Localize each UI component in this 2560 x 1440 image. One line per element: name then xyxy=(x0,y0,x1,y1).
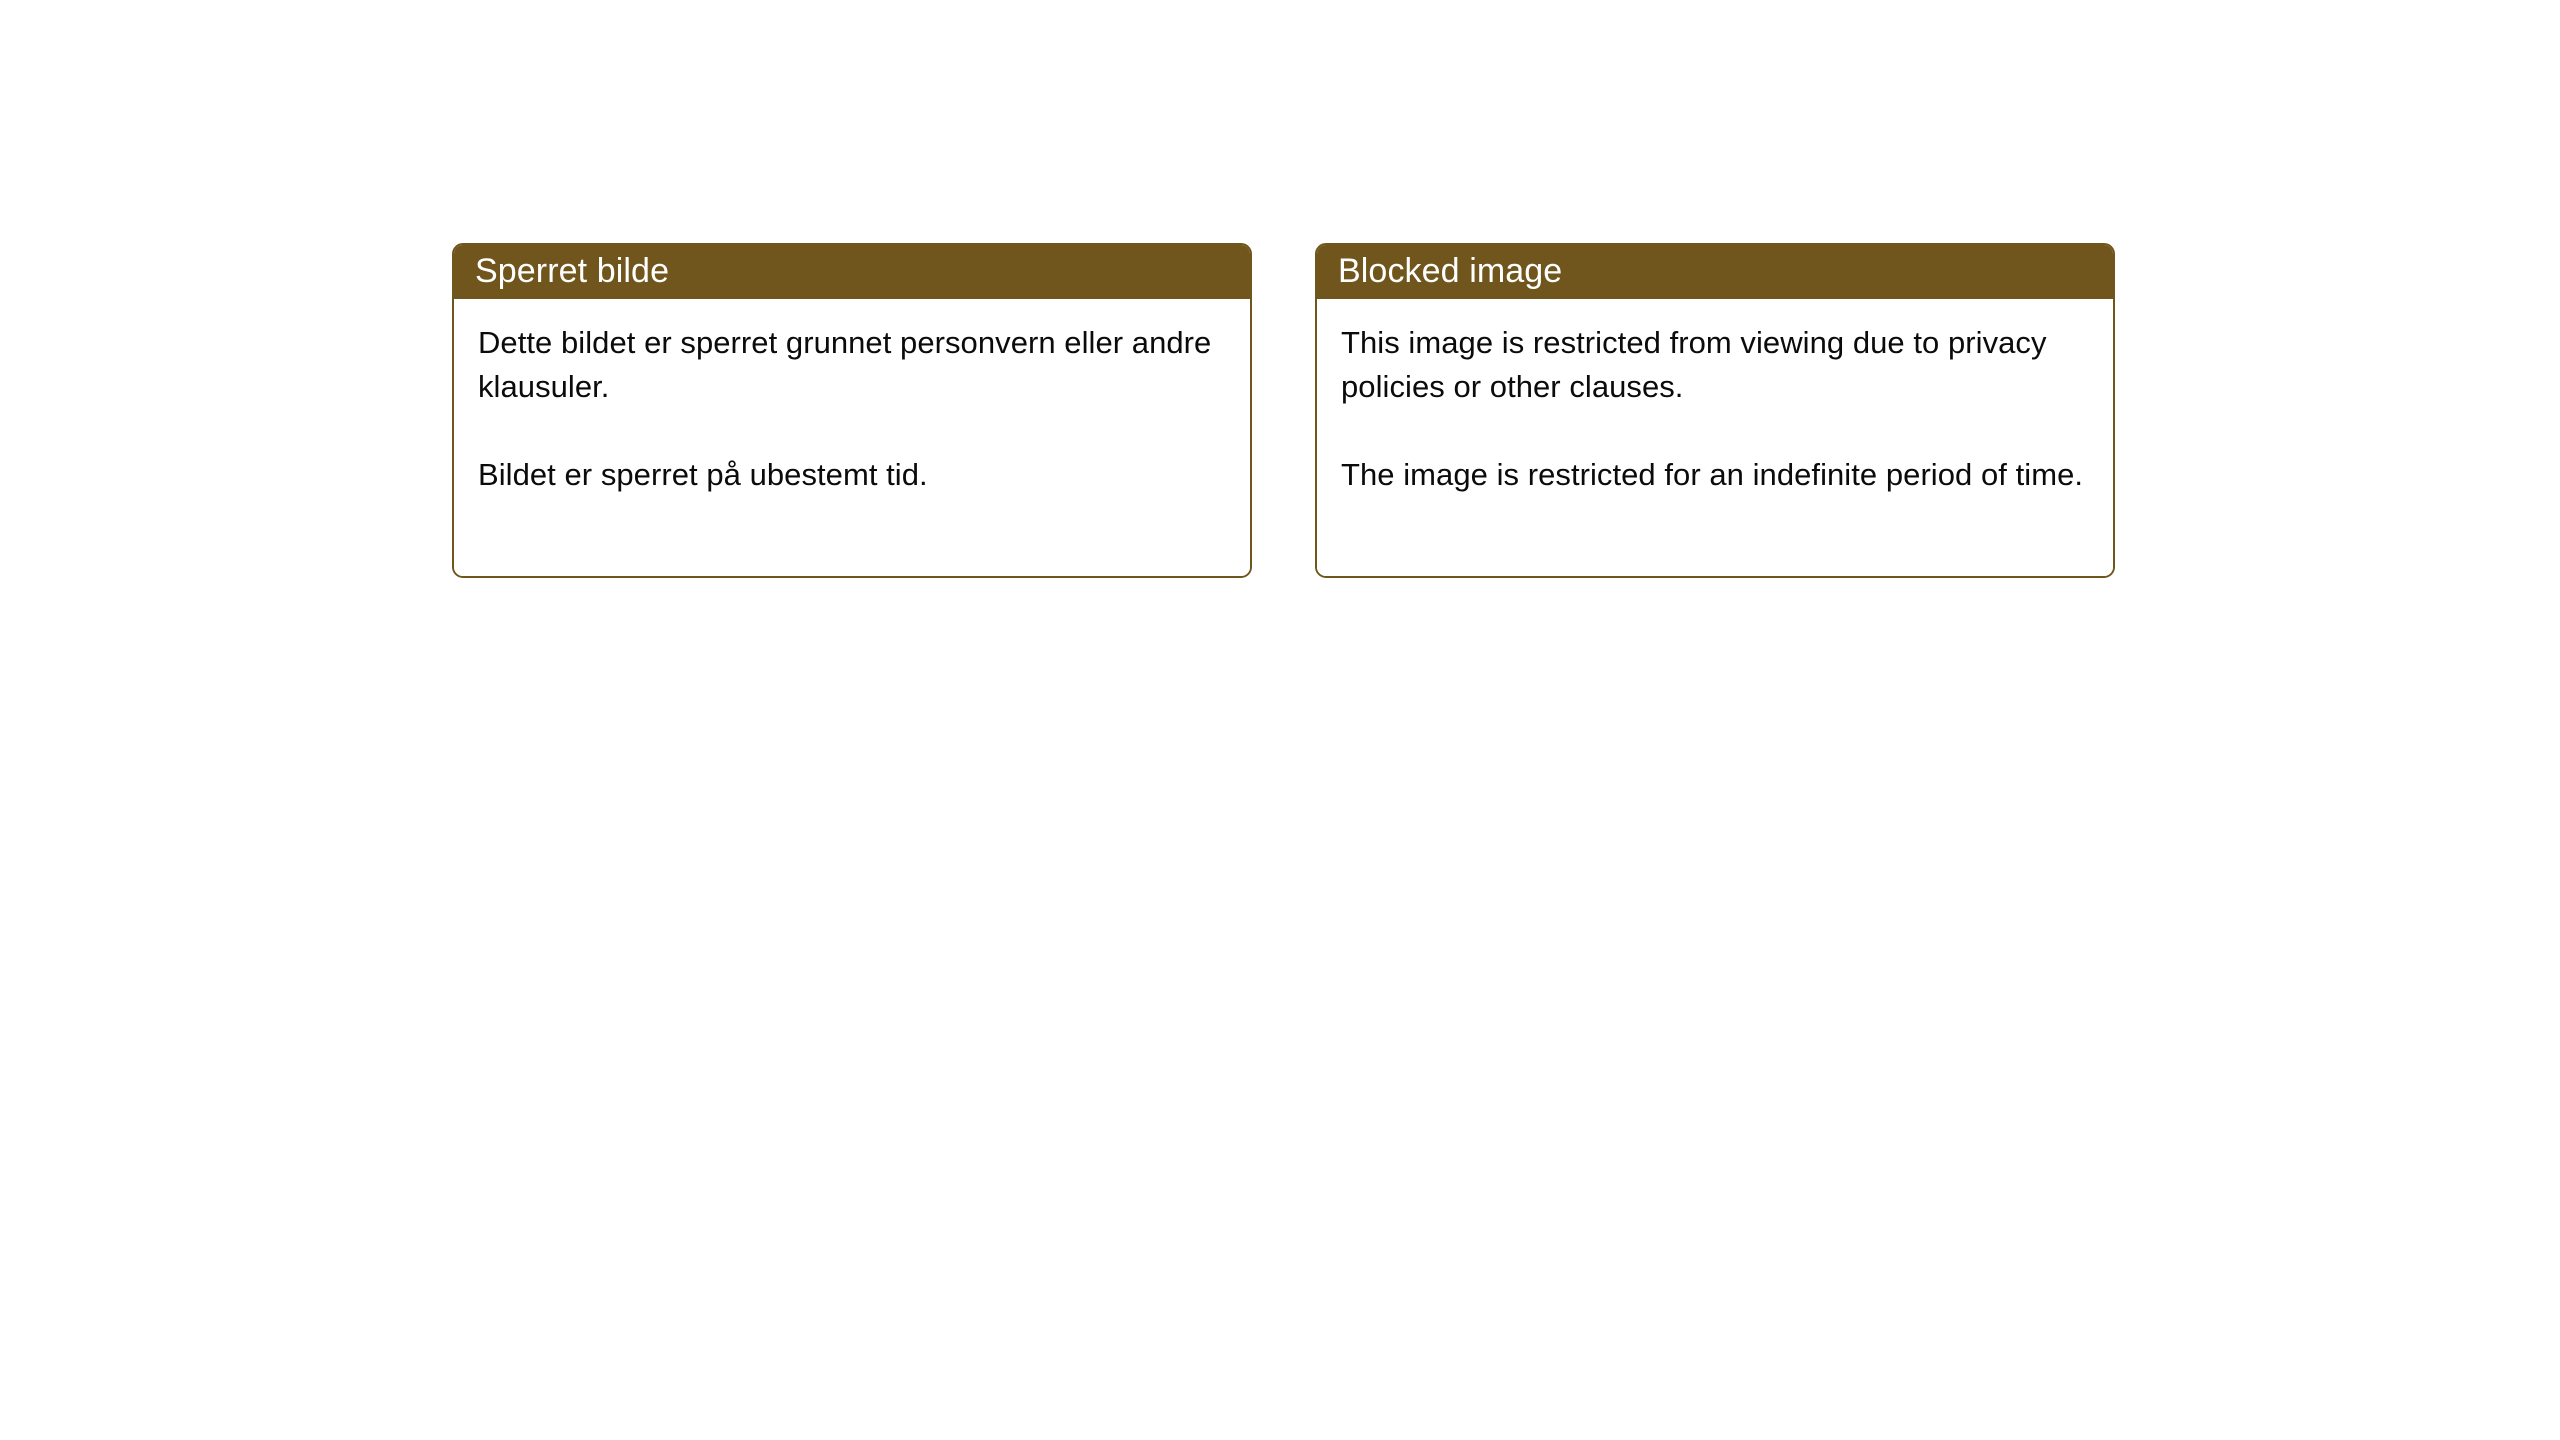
card-paragraph-reason-english: This image is restricted from viewing du… xyxy=(1341,321,2091,409)
blocked-image-card-english: Blocked image This image is restricted f… xyxy=(1315,243,2115,578)
card-header-norwegian: Sperret bilde xyxy=(452,243,1252,299)
blocked-image-notice-area: Sperret bilde Dette bildet er sperret gr… xyxy=(452,243,2115,578)
card-header-english: Blocked image xyxy=(1315,243,2115,299)
card-body-norwegian: Dette bildet er sperret grunnet personve… xyxy=(454,299,1250,576)
card-paragraph-reason-norwegian: Dette bildet er sperret grunnet personve… xyxy=(478,321,1228,409)
blocked-image-card-norwegian: Sperret bilde Dette bildet er sperret gr… xyxy=(452,243,1252,578)
card-paragraph-duration-norwegian: Bildet er sperret på ubestemt tid. xyxy=(478,453,1228,497)
card-title-english: Blocked image xyxy=(1338,254,1562,288)
card-body-english: This image is restricted from viewing du… xyxy=(1317,299,2113,576)
card-paragraph-duration-english: The image is restricted for an indefinit… xyxy=(1341,453,2091,497)
card-title-norwegian: Sperret bilde xyxy=(475,254,669,288)
